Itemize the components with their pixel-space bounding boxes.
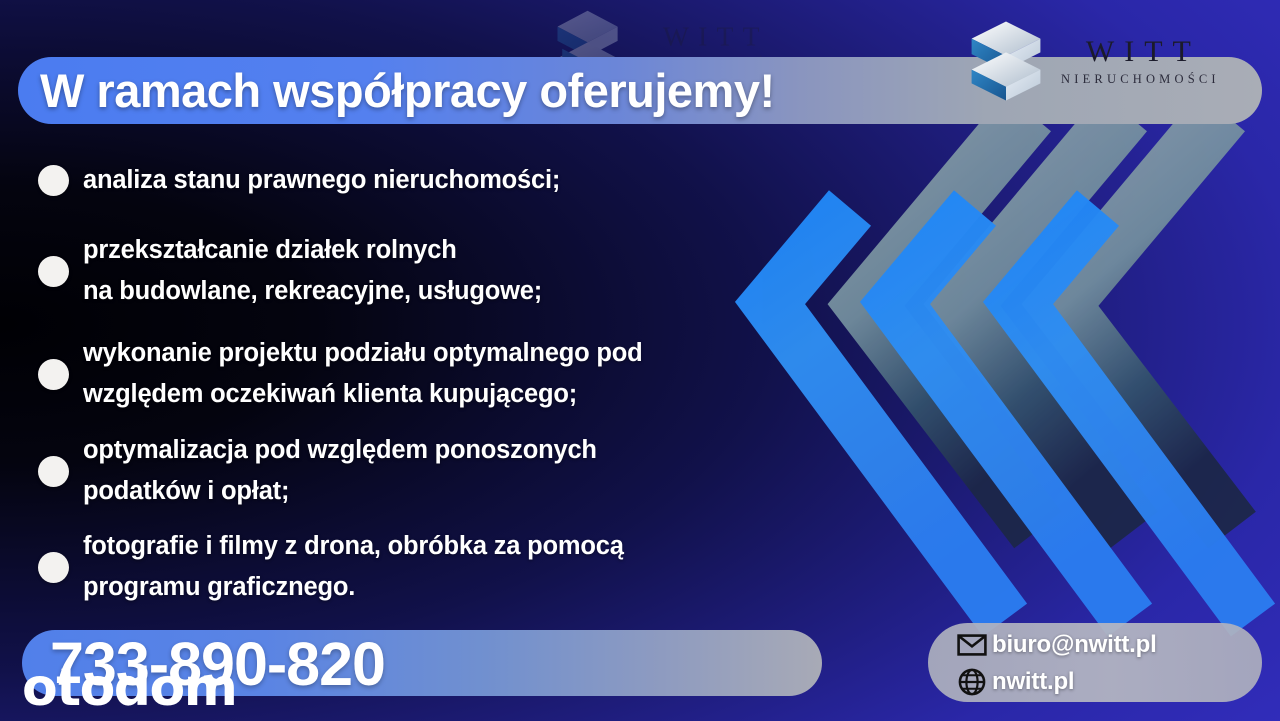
list-item-text: przekształcanie działek rolnych na budow… <box>83 230 542 312</box>
bullet-dot-icon <box>38 165 69 196</box>
list-item: analiza stanu prawnego nieruchomości; <box>38 160 798 201</box>
list-item-line: przekształcanie działek rolnych <box>83 230 542 271</box>
list-item: fotografie i filmy z drona, obróbka za p… <box>38 526 798 608</box>
bullet-dot-icon <box>38 456 69 487</box>
contact-website-row[interactable]: nwitt.pl <box>952 664 1157 699</box>
list-item: optymalizacja pod względem ponoszonych p… <box>38 430 798 512</box>
list-item-text: optymalizacja pod względem ponoszonych p… <box>83 430 597 512</box>
services-list: analiza stanu prawnego nieruchomości; pr… <box>38 160 798 623</box>
bullet-dot-icon <box>38 359 69 390</box>
brand-tagline: NIERUCHOMOŚCI <box>1057 73 1220 86</box>
brand-logo: WITT NIERUCHOMOŚCI <box>963 18 1220 104</box>
contact-details: biuro@nwitt.pl nwitt.pl <box>952 627 1157 699</box>
list-item-text: fotografie i filmy z drona, obróbka za p… <box>83 526 624 608</box>
list-item-line: analiza stanu prawnego nieruchomości; <box>83 160 560 201</box>
watermark-brand-name: WITT <box>654 23 769 51</box>
list-item: przekształcanie działek rolnych na budow… <box>38 230 798 312</box>
list-item-line: optymalizacja pod względem ponoszonych <box>83 430 597 471</box>
marketing-poster: WITT NIERUCHOMOŚCI W ramach współpracy o… <box>0 0 1280 721</box>
list-item-line: fotografie i filmy z drona, obróbka za p… <box>83 526 624 567</box>
website-address: nwitt.pl <box>992 668 1074 696</box>
email-address: biuro@nwitt.pl <box>992 631 1157 659</box>
list-item-line: podatków i opłat; <box>83 471 597 512</box>
list-item-line: wykonanie projektu podziału optymalnego … <box>83 333 643 374</box>
bullet-dot-icon <box>38 552 69 583</box>
contact-email-row[interactable]: biuro@nwitt.pl <box>952 627 1157 662</box>
list-item-line: na budowlane, rekreacyjne, usługowe; <box>83 271 542 312</box>
otodom-watermark: otodom <box>22 662 236 714</box>
list-item-line: programu graficznego. <box>83 567 624 608</box>
list-item-text: analiza stanu prawnego nieruchomości; <box>83 160 560 201</box>
brand-name: WITT <box>1076 37 1201 67</box>
brand-logo-text: WITT NIERUCHOMOŚCI <box>1057 37 1220 86</box>
bullet-dot-icon <box>38 256 69 287</box>
page-title: W ramach współpracy oferujemy! <box>40 54 775 127</box>
envelope-icon <box>952 634 992 656</box>
isometric-blocks-logo-icon <box>963 18 1049 104</box>
list-item: wykonanie projektu podziału optymalnego … <box>38 333 798 415</box>
list-item-line: względem oczekiwań klienta kupującego; <box>83 374 643 415</box>
list-item-text: wykonanie projektu podziału optymalnego … <box>83 333 643 415</box>
globe-icon <box>952 668 992 696</box>
